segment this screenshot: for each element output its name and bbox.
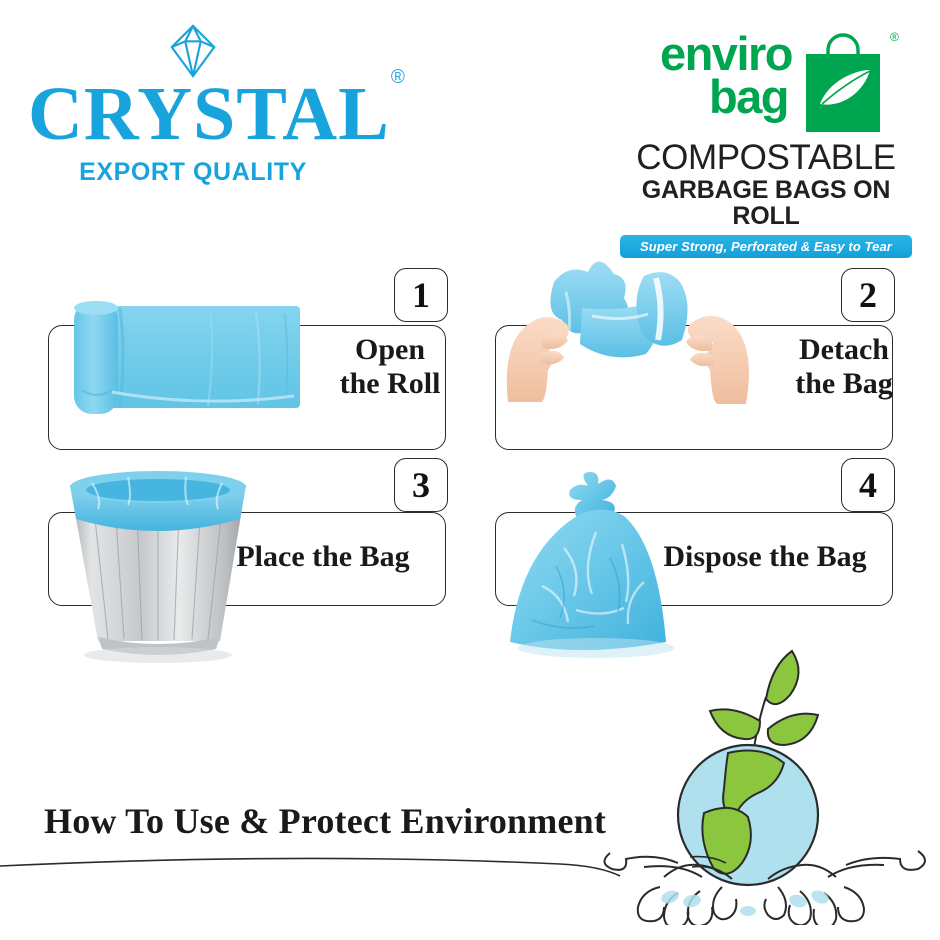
envirobag-word-line1: enviro — [622, 32, 792, 75]
step-1-label: Open the Roll — [330, 333, 450, 400]
crystal-name: CRYSTAL — [28, 72, 390, 156]
step-1-badge: 1 — [394, 268, 448, 322]
step-3-badge: 3 — [394, 458, 448, 512]
crystal-brand-block: CRYSTAL® EXPORT QUALITY — [28, 22, 358, 187]
infographic-page: CRYSTAL® EXPORT QUALITY enviro bag ® COM… — [0, 0, 940, 940]
step-2-label-line2: the Bag — [780, 367, 908, 401]
compostable-headline: COMPOSTABLE — [620, 140, 912, 175]
envirobag-logo: enviro bag ® — [620, 26, 912, 138]
trash-bin-lined-icon — [58, 443, 258, 665]
crystal-registered-mark: ® — [391, 67, 406, 88]
envirobag-wordmark: enviro bag — [622, 32, 792, 118]
hands-tearing-bag-icon — [496, 252, 761, 412]
envirobag-word-line2: bag — [622, 75, 792, 118]
envirobag-registered-mark: ® — [890, 30, 899, 44]
step-1-label-line2: the Roll — [330, 367, 450, 401]
crystal-wordmark: CRYSTAL® — [28, 78, 405, 150]
footer-headline: How To Use & Protect Environment — [40, 800, 610, 842]
step-4-badge: 4 — [841, 458, 895, 512]
earth-plant-hands-icon — [600, 625, 930, 925]
bag-roll-icon — [60, 292, 320, 422]
step-2-label-line1: Detach — [780, 333, 908, 367]
step-2-badge: 2 — [841, 268, 895, 322]
shopping-bag-leaf-icon — [798, 26, 888, 134]
envirobag-brand-block: enviro bag ® COMPOSTABLE GARBAGE BAGS ON… — [620, 26, 912, 258]
crystal-subtitle: EXPORT QUALITY — [28, 158, 358, 187]
step-1-label-line1: Open — [330, 333, 450, 367]
tied-garbage-bag-icon — [492, 470, 702, 670]
step-2-label: Detach the Bag — [780, 333, 908, 400]
garbage-bags-subheadline: GARBAGE BAGS ON ROLL — [620, 177, 912, 230]
